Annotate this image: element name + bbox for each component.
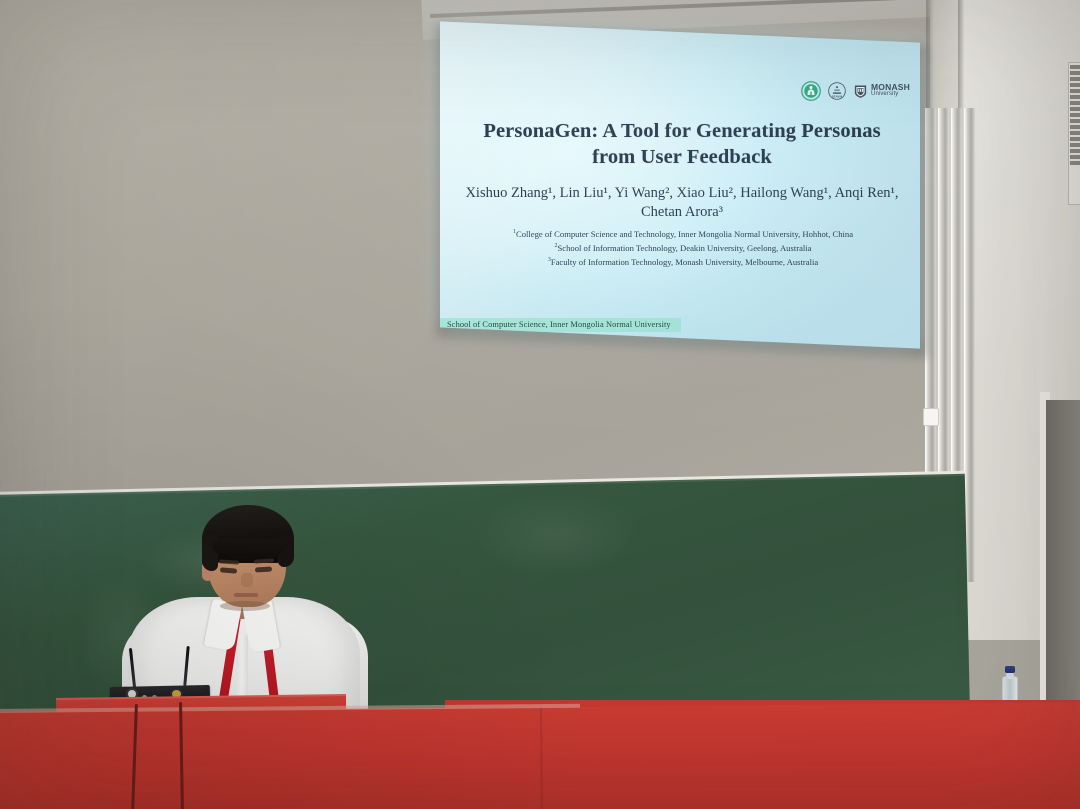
slide-affiliation-item: 1College of Computer Science and Technol… xyxy=(466,228,900,242)
slide-author-line-2: Chetan Arora³ xyxy=(462,203,902,222)
monash-logo-subtext: University xyxy=(871,92,910,98)
podium-front-panel xyxy=(0,702,1080,809)
svg-text:DEAKIN: DEAKIN xyxy=(832,94,842,98)
slide-author-line-1: Xishuo Zhang¹, Lin Liu¹, Yi Wang², Xiao … xyxy=(462,184,902,203)
ventilation-grille-icon xyxy=(1068,62,1080,205)
projection-screen: DEAKIN MONASH University xyxy=(440,21,920,348)
doorway-opening xyxy=(1046,400,1080,730)
presentation-photo-scene: DEAKIN MONASH University xyxy=(0,0,1080,809)
partition-hinge xyxy=(923,408,939,426)
slide-affiliation-list: 1College of Computer Science and Technol… xyxy=(466,228,900,270)
slide-title: PersonaGen: A Tool for Generating Person… xyxy=(464,118,900,170)
affiliation-text: College of Computer Science and Technolo… xyxy=(516,229,853,239)
slide-affiliation-item: 2School of Information Technology, Deaki… xyxy=(466,242,900,256)
affiliation-text: Faculty of Information Technology, Monas… xyxy=(551,257,818,267)
slide-affiliation-item: 3Faculty of Information Technology, Mona… xyxy=(466,256,900,270)
inner-mongolia-normal-university-logo-icon xyxy=(801,81,821,101)
slide-footer: School of Computer Science, Inner Mongol… xyxy=(440,314,920,332)
bottle-cap xyxy=(1005,666,1015,673)
presenter-chin-shadow xyxy=(220,601,270,611)
partition-panel xyxy=(964,108,975,582)
slide-author-list: Xishuo Zhang¹, Lin Liu¹, Yi Wang², Xiao … xyxy=(462,184,902,222)
deakin-university-logo-icon: DEAKIN xyxy=(828,82,846,100)
presenter-hair-fringe xyxy=(212,539,286,559)
monash-shield-icon xyxy=(853,84,868,99)
presenter-mouth xyxy=(234,593,258,597)
monash-university-logo-icon: MONASH University xyxy=(853,84,910,99)
projected-slide: DEAKIN MONASH University xyxy=(440,32,920,338)
presenter-nose xyxy=(241,573,253,587)
affiliation-text: School of Information Technology, Deakin… xyxy=(558,243,812,253)
slide-logo-row: DEAKIN MONASH University xyxy=(801,81,910,101)
